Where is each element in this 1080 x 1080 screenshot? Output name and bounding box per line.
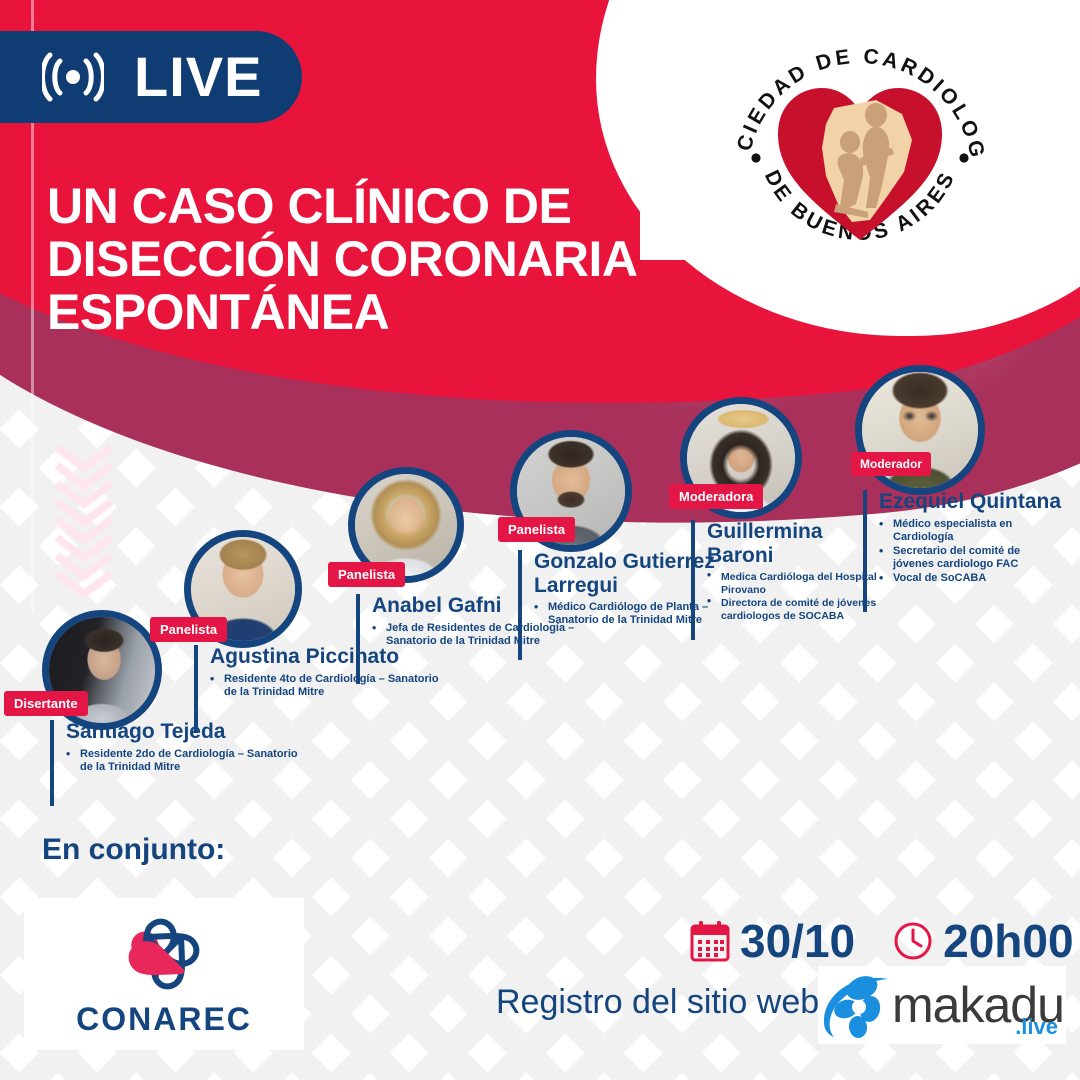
bullet-item: Médico especialista en Cardiología: [879, 518, 1063, 544]
page-title: UN CASO CLÍNICO DE DISECCIÓN CORONARIA E…: [47, 180, 687, 339]
poster-canvas: LIVE UN CASO CLÍNICO DE DISECCIÓN CORONA…: [0, 0, 1080, 1080]
speaker-card-ezequiel-quintana: Moderador Ezequiel Quintana Médico espec…: [830, 360, 1080, 640]
role-badge-panelista: Panelista: [498, 517, 575, 542]
makadu-logo[interactable]: makadu .live: [818, 966, 1066, 1044]
live-label: LIVE: [134, 49, 262, 105]
live-badge[interactable]: LIVE: [0, 31, 302, 123]
event-time-value: 20h00: [943, 918, 1073, 964]
role-badge-disertante: Disertante: [4, 691, 88, 716]
event-date: 30/10: [690, 918, 855, 964]
makadu-tld: .live: [1015, 1014, 1058, 1040]
speaker-name: Ezequiel Quintana: [879, 490, 1063, 514]
makadu-swoosh-icon: [818, 971, 892, 1039]
sociedad-de-cardiologia-logo: SOCIEDAD DE CARDIOLOGIA DE BUENOS AIRES: [726, 8, 994, 270]
clock-icon: [893, 920, 933, 962]
ezequiel-quintana-info: Ezequiel Quintana Médico especialista en…: [863, 490, 1063, 586]
bullet-item: Secretario del comité de jóvenes cardiol…: [879, 545, 1063, 571]
event-date-value: 30/10: [740, 918, 855, 964]
conarec-logo-card: CONAREC: [24, 898, 304, 1050]
role-badge-moderadora: Moderadora: [669, 484, 763, 509]
chevron-arrows-decoration: [44, 442, 124, 602]
broadcast-signal-icon: [42, 52, 104, 102]
event-time: 20h00: [893, 918, 1073, 964]
conarec-logo: [121, 911, 207, 997]
role-badge-panelista: Panelista: [150, 617, 227, 642]
calendar-icon: [690, 920, 730, 962]
bullet-item: Vocal de SoCABA: [879, 572, 1063, 585]
role-badge-moderador: Moderador: [851, 452, 931, 476]
role-badge-panelista: Panelista: [328, 562, 405, 587]
event-datetime: 30/10 20h00: [690, 918, 1074, 964]
registration-text: Registro del sitio web: [496, 985, 819, 1019]
speaker-bullets: Médico especialista en Cardiología Secre…: [879, 518, 1063, 586]
conarec-wordmark: CONAREC: [76, 1001, 252, 1038]
